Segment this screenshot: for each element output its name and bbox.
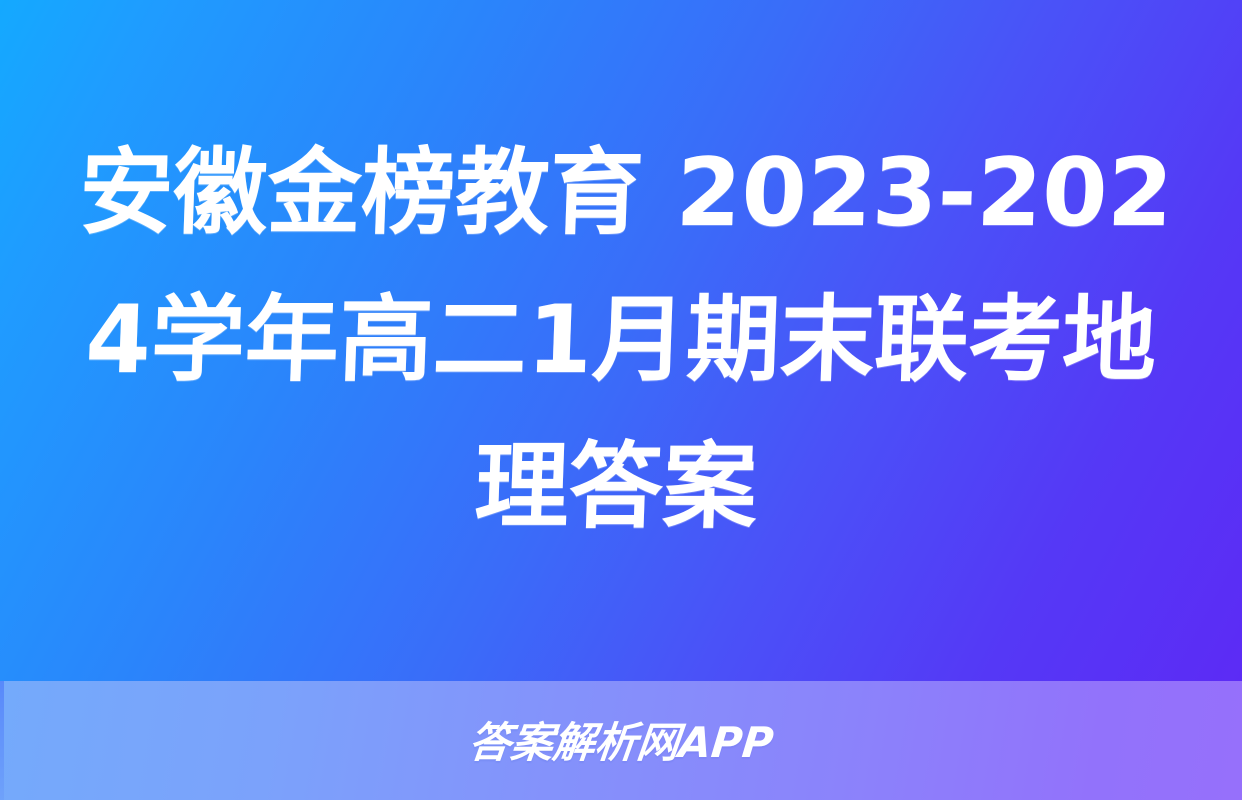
hero-title-block: 安徽金榜教育 2023-2024学年高二1月期末联考地理答案 <box>0 0 1242 681</box>
brand-watermark-label: 答案解析网APP <box>467 722 775 764</box>
page-title: 安徽金榜教育 2023-2024学年高二1月期末联考地理答案 <box>58 120 1183 561</box>
answer-poster: 安徽金榜教育 2023-2024学年高二1月期末联考地理答案 答案解析网APP <box>0 0 1242 800</box>
footer-brand-band: 答案解析网APP <box>0 681 1242 800</box>
